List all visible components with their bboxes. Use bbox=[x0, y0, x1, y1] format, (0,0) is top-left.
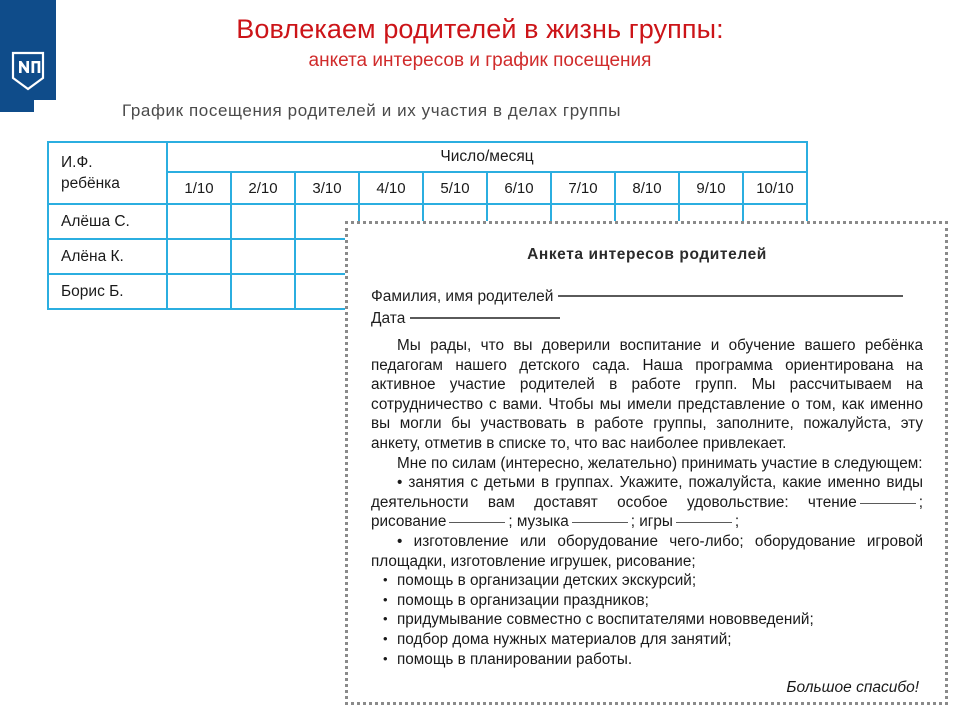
table-header-row: И.Ф. ребёнка Число/месяц bbox=[48, 142, 807, 172]
reading-blank-input[interactable] bbox=[860, 503, 916, 504]
name-column-header: И.Ф. ребёнка bbox=[48, 142, 167, 204]
games-blank-label: игры bbox=[639, 513, 673, 530]
date-input[interactable] bbox=[410, 317, 560, 319]
date-header-cell: 1/10 bbox=[167, 172, 231, 204]
child-name-cell: Алёна К. bbox=[48, 239, 167, 274]
attendance-cell[interactable] bbox=[167, 274, 231, 309]
blank-separator: ; bbox=[508, 513, 512, 530]
questionnaire-title: Анкета интересов родителей bbox=[371, 246, 923, 264]
date-header-cell: 3/10 bbox=[295, 172, 359, 204]
name-header-line1: И.Ф. bbox=[61, 152, 166, 173]
attendance-cell[interactable] bbox=[167, 239, 231, 274]
date-group-header: Число/месяц bbox=[167, 142, 807, 172]
questionnaire-body: Мы рады, что вы доверили воспитание и об… bbox=[371, 336, 923, 698]
list-item[interactable]: подбор дома нужных материалов для заняти… bbox=[371, 630, 923, 650]
date-header-cell: 6/10 bbox=[487, 172, 551, 204]
bullet-dot-icon: • bbox=[397, 533, 414, 550]
attendance-cell[interactable] bbox=[231, 239, 295, 274]
making-bullet-paragraph: • изготовление или оборудование чего-либ… bbox=[371, 532, 923, 571]
list-item[interactable]: помощь в планировании работы. bbox=[371, 650, 923, 670]
date-header-cell: 7/10 bbox=[551, 172, 615, 204]
date-header-cell: 2/10 bbox=[231, 172, 295, 204]
questionnaire-leadin-paragraph: Мне по силам (интересно, желательно) при… bbox=[371, 454, 923, 474]
schedule-caption: График посещения родителей и их участия … bbox=[122, 101, 621, 121]
parent-interest-questionnaire: Анкета интересов родителей Фамилия, имя … bbox=[345, 221, 948, 705]
parent-name-input[interactable] bbox=[558, 295, 903, 297]
list-item[interactable]: помощь в организации детских экскурсий; bbox=[371, 571, 923, 591]
parent-name-field-row: Фамилия, имя родителей bbox=[371, 286, 923, 308]
games-blank-input[interactable] bbox=[676, 522, 732, 523]
activity-bullet-paragraph: • занятия с детьми в группах. Укажите, п… bbox=[371, 473, 923, 532]
blank-separator: ; bbox=[919, 494, 923, 511]
list-item[interactable]: придумывание совместно с воспитателями н… bbox=[371, 610, 923, 630]
bullet-dot-icon: • bbox=[397, 474, 408, 491]
page-subtitle: анкета интересов и график посещения bbox=[0, 48, 960, 74]
slide-title-block: Вовлекаем родителей в жизнь группы: анке… bbox=[0, 12, 960, 74]
participation-options-list: помощь в организации детских экскурсий; … bbox=[371, 571, 923, 669]
list-item[interactable]: помощь в организации праздников; bbox=[371, 591, 923, 611]
date-header-cell: 5/10 bbox=[423, 172, 487, 204]
parent-name-label: Фамилия, имя родителей bbox=[371, 288, 553, 305]
activity-bullet-text: занятия с детьми в группах. Укажите, пож… bbox=[371, 474, 923, 511]
attendance-cell[interactable] bbox=[167, 204, 231, 239]
making-bullet-text: изготовление или оборудование чего-либо;… bbox=[371, 533, 923, 570]
date-header-cell: 8/10 bbox=[615, 172, 679, 204]
questionnaire-intro-paragraph: Мы рады, что вы доверили воспитание и об… bbox=[371, 336, 923, 454]
attendance-cell[interactable] bbox=[231, 274, 295, 309]
date-header-cell: 4/10 bbox=[359, 172, 423, 204]
page-title: Вовлекаем родителей в жизнь группы: bbox=[0, 12, 960, 46]
date-label: Дата bbox=[371, 310, 405, 327]
blank-separator: ; bbox=[735, 513, 739, 530]
attendance-cell[interactable] bbox=[231, 204, 295, 239]
date-field-row: Дата bbox=[371, 308, 923, 330]
thanks-note: Большое спасибо! bbox=[371, 678, 923, 698]
music-blank-input[interactable] bbox=[572, 522, 628, 523]
date-header-cell: 9/10 bbox=[679, 172, 743, 204]
name-header-line2: ребёнка bbox=[61, 173, 166, 194]
blank-separator: ; bbox=[631, 513, 635, 530]
date-header-cell: 10/10 bbox=[743, 172, 807, 204]
child-name-cell: Алёша С. bbox=[48, 204, 167, 239]
child-name-cell: Борис Б. bbox=[48, 274, 167, 309]
music-blank-label: музыка bbox=[517, 513, 569, 530]
drawing-blank-label: рисование bbox=[371, 513, 446, 530]
drawing-blank-input[interactable] bbox=[449, 522, 505, 523]
